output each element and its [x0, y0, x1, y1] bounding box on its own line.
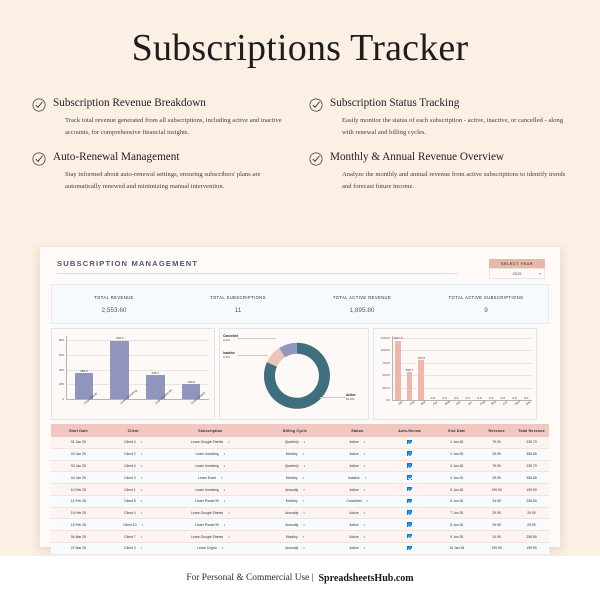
chart-bar-value-label: 558.7	[404, 368, 416, 372]
checkbox-auto-renew[interactable]	[407, 487, 412, 492]
chevron-down-icon[interactable]: ▾	[141, 546, 143, 550]
table-row[interactable]: 15 Feb 25Client 4▾Learn Google Sheets▾An…	[51, 507, 549, 519]
chevron-down-icon[interactable]: ▾	[141, 464, 143, 468]
table-row[interactable]: 16 Feb 25Client 10▾Learn Power BI▾Annual…	[51, 519, 549, 531]
table-cell: 4 Jan 26	[434, 472, 479, 484]
feature-description: Stay informed about auto-renewal setting…	[53, 169, 295, 192]
chevron-down-icon[interactable]: ▾	[364, 511, 366, 515]
table-cell: Annually▾	[260, 519, 330, 531]
kpi-total-subscriptions: TOTAL SUBSCRIPTIONS 11	[176, 285, 300, 323]
table-cell: Learn Power BI▾	[161, 519, 261, 531]
table-cell: Active▾	[330, 531, 385, 543]
chart-gridline	[392, 338, 532, 339]
table-cell: Client 3▾	[106, 543, 161, 555]
table-cell: Learn Crypto▾	[161, 543, 261, 555]
checkbox-auto-renew[interactable]	[407, 522, 412, 527]
chevron-down-icon[interactable]: ▾	[141, 452, 143, 456]
chart-y-axis	[66, 336, 67, 399]
chevron-down-icon[interactable]: ▾	[364, 488, 366, 492]
chart-gridline	[392, 375, 532, 376]
chevron-down-icon[interactable]: ▾	[364, 535, 366, 539]
table-cell-auto-renew[interactable]	[385, 437, 435, 448]
chart-y-tick-label: 1000.0	[374, 348, 390, 352]
table-cell: Active▾	[330, 519, 385, 531]
chart-bar	[418, 360, 423, 400]
table-cell: 07 Mar 25	[51, 543, 106, 555]
table-cell: Active▾	[330, 507, 385, 519]
table-cell-auto-renew[interactable]	[385, 495, 435, 507]
table-cell: 29.90	[479, 448, 514, 460]
table-cell: Client 7▾	[106, 531, 161, 543]
table-cell: 02 Jan 25	[51, 448, 106, 460]
table-cell: 10 Jan 26	[434, 543, 479, 555]
table-cell: Client 3▾	[106, 472, 161, 484]
table-cell: Monthly▾	[260, 531, 330, 543]
feature-item: Subscription Status Tracking Easily moni…	[309, 96, 572, 138]
table-cell: 79.90	[479, 437, 514, 448]
table-cell: 298.80	[514, 495, 549, 507]
checkbox-auto-renew[interactable]	[407, 499, 412, 504]
table-cell: 5 Jan 26	[434, 484, 479, 496]
donut-leader-line	[238, 338, 276, 339]
chevron-down-icon[interactable]: ▾	[303, 511, 305, 515]
footer: For Personal & Commercial Use | Spreadsh…	[0, 556, 600, 600]
table-cell: 9 Jan 26	[434, 531, 479, 543]
kpi-value: 2,553.60	[102, 307, 127, 314]
table-row[interactable]: 01 Jan 25Client 4▾Learn Google Sheets▾Qu…	[51, 437, 549, 448]
table-cell-auto-renew[interactable]	[385, 460, 435, 472]
chevron-down-icon[interactable]: ▾	[141, 535, 143, 539]
feature-description: Analyze the monthly and annual revenue f…	[330, 169, 572, 192]
table-cell: 1 Jan 26	[434, 437, 479, 448]
table-row[interactable]: 04 Mar 25Client 7▾Learn Google Sheets▾Mo…	[51, 531, 549, 543]
chevron-down-icon[interactable]: ▾	[141, 511, 143, 515]
chart-bar-value-label: 328.7	[138, 371, 174, 375]
table-cell: 29.90	[479, 472, 514, 484]
feature-title: Monthly & Annual Revenue Overview	[330, 150, 572, 164]
table-cell: Client 4▾	[106, 437, 161, 448]
table-column-header[interactable]: Billing Cycle	[260, 424, 330, 437]
kpi-row: TOTAL REVENUE 2,553.60 TOTAL SUBSCRIPTIO…	[51, 284, 549, 324]
table-column-header[interactable]: Revenue	[479, 424, 514, 437]
year-picker[interactable]: SELECT YEAR 2025 ▾	[489, 259, 545, 279]
table-cell: 239.70	[514, 437, 549, 448]
table-cell: 239.70	[514, 460, 549, 472]
chevron-down-icon[interactable]: ▾	[539, 272, 541, 276]
table-cell: 199.90	[514, 543, 549, 555]
chevron-down-icon[interactable]: ▾	[304, 464, 306, 468]
table-cell: 3 Jan 26	[434, 460, 479, 472]
chart-y-tick-label: 1250.0	[374, 336, 390, 340]
chart-gridline	[392, 363, 532, 364]
checkbox-auto-renew[interactable]	[407, 510, 412, 515]
checkbox-auto-renew[interactable]	[407, 463, 412, 468]
kpi-label: TOTAL ACTIVE REVENUE	[333, 295, 391, 300]
checkbox-auto-renew[interactable]	[407, 475, 412, 480]
check-circle-icon	[32, 152, 46, 166]
chevron-down-icon[interactable]: ▾	[228, 440, 230, 444]
table-cell: 04 Jan 25	[51, 472, 106, 484]
year-select[interactable]: 2025 ▾	[489, 268, 545, 279]
chart-bar-value-label: 0.0	[427, 396, 439, 400]
table-cell: Active▾	[330, 437, 385, 448]
table-cell: Learn Google Sheets▾	[161, 531, 261, 543]
chart-bar	[110, 341, 129, 399]
table-cell: 358.80	[514, 472, 549, 484]
chevron-down-icon[interactable]: ▾	[221, 476, 223, 480]
table-column-header[interactable]: Status	[330, 424, 385, 437]
checkbox-auto-renew[interactable]	[407, 451, 412, 456]
chevron-down-icon[interactable]: ▾	[224, 523, 226, 527]
table-cell: 03 Jan 25	[51, 460, 106, 472]
feature-item: Auto-Renewal Management Stay informed ab…	[32, 150, 295, 192]
feature-item: Monthly & Annual Revenue Overview Analyz…	[309, 150, 572, 192]
table-cell: 7 Jan 26	[434, 507, 479, 519]
table-cell: 29.90	[514, 507, 549, 519]
table-cell: 29.90	[514, 519, 549, 531]
table-cell: Client 5▾	[106, 495, 161, 507]
table-cell-auto-renew[interactable]	[385, 507, 435, 519]
table-cell: 24.90	[479, 531, 514, 543]
table-cell: 199.90	[514, 484, 549, 496]
footer-brand: SpreadsheetsHub.com	[319, 573, 414, 584]
table-cell: Annually▾	[260, 543, 330, 555]
check-circle-icon	[309, 98, 323, 112]
chart-gridline	[392, 350, 532, 351]
chart-y-tick-label: 600	[52, 353, 64, 357]
feature-title: Auto-Renewal Management	[53, 150, 295, 164]
table-cell: 24.90	[479, 495, 514, 507]
chevron-down-icon[interactable]: ▾	[364, 523, 366, 527]
kpi-total-active-revenue: TOTAL ACTIVE REVENUE 1,895.80	[300, 285, 424, 323]
table-row[interactable]: 14 Feb 25Client 5▾Learn Power BI▾Monthly…	[51, 495, 549, 507]
table-column-header[interactable]: Start Date	[51, 424, 106, 437]
chart-bar-value-label: 0.0	[462, 396, 474, 400]
table-column-header[interactable]: Auto-Renew	[385, 424, 435, 437]
chart-revenue-by-subscription: 0200400600800358.8Learn Excel798.3Learn …	[51, 328, 215, 420]
table-cell: Active▾	[330, 484, 385, 496]
table-column-header[interactable]: Client	[106, 424, 161, 437]
checkbox-auto-renew[interactable]	[407, 534, 412, 539]
chart-y-tick-label: 200	[52, 382, 64, 386]
table-cell: 14 Feb 25	[51, 495, 106, 507]
table-cell-auto-renew[interactable]	[385, 484, 435, 496]
table-cell: 199.90	[479, 543, 514, 555]
chart-bar-value-label: 0.0	[497, 396, 509, 400]
donut-leader-line	[238, 355, 268, 356]
chart-subscription-status-share: Active81.8%Inactive9.1%Cancelled9.1%	[219, 328, 369, 420]
table-cell: Client 4▾	[106, 507, 161, 519]
table-cell: Learn Google Sheets▾	[161, 507, 261, 519]
chart-y-tick-label: 800	[52, 338, 64, 342]
feature-description: Easily monitor the status of each subscr…	[330, 115, 572, 138]
table-row[interactable]: 07 Mar 25Client 3▾Learn Crypto▾Annually▾…	[51, 543, 549, 555]
chart-monthly-revenue: 0.0250.0500.0750.01000.01250.01197.0Jan5…	[373, 328, 537, 420]
kpi-value: 1,895.80	[350, 307, 375, 314]
chart-y-tick-label: 0.0	[374, 398, 390, 402]
table-cell: Client 4▾	[106, 460, 161, 472]
table-cell: Active▾	[330, 448, 385, 460]
feature-list: Subscription Revenue Breakdown Track tot…	[0, 70, 600, 192]
chevron-down-icon[interactable]: ▾	[224, 499, 226, 503]
table-cell: Learn Power BI▾	[161, 495, 261, 507]
table-cell: Annually▾	[260, 484, 330, 496]
dashboard-header: SUBSCRIPTION MANAGEMENT SELECT YEAR 2025…	[49, 255, 551, 279]
table-cell: 10 Feb 25	[51, 484, 106, 496]
table-cell: Learn Excel▾	[161, 472, 261, 484]
chart-y-axis	[392, 336, 393, 400]
check-circle-icon	[309, 152, 323, 166]
feature-title: Subscription Revenue Breakdown	[53, 96, 295, 110]
chevron-down-icon[interactable]: ▾	[224, 452, 226, 456]
table-cell: 358.80	[514, 448, 549, 460]
kpi-value: 9	[484, 307, 488, 314]
chevron-down-icon[interactable]: ▾	[364, 440, 366, 444]
chart-bar-value-label: 199.9	[173, 380, 209, 384]
table-cell-auto-renew[interactable]	[385, 519, 435, 531]
table-cell: Monthly▾	[260, 472, 330, 484]
checkbox-auto-renew[interactable]	[407, 440, 412, 445]
kpi-label: TOTAL SUBSCRIPTIONS	[210, 295, 266, 300]
chart-bar-value-label: 797.6	[415, 356, 427, 360]
chart-bar	[395, 341, 400, 400]
chevron-down-icon[interactable]: ▾	[364, 452, 366, 456]
table-cell: Client 2▾	[106, 448, 161, 460]
chart-y-tick-label: 400	[52, 368, 64, 372]
table-cell: Learn Investing▾	[161, 448, 261, 460]
feature-title: Subscription Status Tracking	[330, 96, 572, 110]
table-cell: Client 1▾	[106, 484, 161, 496]
check-circle-icon	[32, 98, 46, 112]
kpi-total-revenue: TOTAL REVENUE 2,553.60	[52, 285, 176, 323]
table-row[interactable]: 02 Jan 25Client 2▾Learn Investing▾Monthl…	[51, 448, 549, 460]
table-cell: 01 Jan 25	[51, 437, 106, 448]
page-title: Subscriptions Tracker	[0, 0, 600, 70]
donut-chart	[220, 329, 368, 419]
table-row[interactable]: 03 Jan 25Client 4▾Learn Investing▾Quarte…	[51, 460, 549, 472]
dashboard-screenshot: SUBSCRIPTION MANAGEMENT SELECT YEAR 2025…	[40, 247, 560, 547]
chevron-down-icon[interactable]: ▾	[303, 546, 305, 550]
table-cell: Learn Investing▾	[161, 460, 261, 472]
kpi-label: TOTAL ACTIVE SUBSCRIPTIONS	[449, 295, 524, 300]
chevron-down-icon[interactable]: ▾	[228, 511, 230, 515]
table-column-header[interactable]: End Date	[434, 424, 479, 437]
table-cell: Monthly▾	[260, 448, 330, 460]
chevron-down-icon[interactable]: ▾	[303, 499, 305, 503]
chart-bar-value-label: 0.0	[450, 396, 462, 400]
table-cell: 16 Feb 25	[51, 519, 106, 531]
table-header-row: Start DateClientSubscriptionBilling Cycl…	[51, 424, 549, 437]
chart-y-tick-label: 0	[52, 397, 64, 401]
table-row[interactable]: 04 Jan 25Client 3▾Learn Excel▾Monthly▾In…	[51, 472, 549, 484]
chevron-down-icon[interactable]: ▾	[303, 476, 305, 480]
chevron-down-icon[interactable]: ▾	[304, 440, 306, 444]
chart-gridline	[66, 355, 209, 356]
feature-item: Subscription Revenue Breakdown Track tot…	[32, 96, 295, 138]
table-column-header[interactable]: Total Revenue	[514, 424, 549, 437]
feature-description: Track total revenue generated from all s…	[53, 115, 295, 138]
chart-y-tick-label: 250.0	[374, 386, 390, 390]
donut-slice-label: Inactive9.1%	[223, 351, 235, 359]
chevron-down-icon[interactable]: ▾	[367, 499, 369, 503]
charts-row: 0200400600800358.8Learn Excel798.3Learn …	[51, 328, 549, 420]
table-cell-auto-renew[interactable]	[385, 543, 435, 555]
donut-slice-label: Cancelled9.1%	[223, 334, 238, 342]
chevron-down-icon[interactable]: ▾	[224, 464, 226, 468]
chevron-down-icon[interactable]: ▾	[303, 452, 305, 456]
year-picker-label: SELECT YEAR	[489, 259, 545, 268]
chart-y-tick-label: 750.0	[374, 361, 390, 365]
table-cell: 15 Feb 25	[51, 507, 106, 519]
footer-usage-text: For Personal & Commercial Use |	[186, 573, 313, 583]
table-cell: 199.90	[479, 484, 514, 496]
checkbox-auto-renew[interactable]	[407, 546, 412, 551]
chart-gridline	[392, 388, 532, 389]
table-row[interactable]: 10 Feb 25Client 1▾Learn Investing▾Annual…	[51, 484, 549, 496]
table-cell-auto-renew[interactable]	[385, 448, 435, 460]
chart-y-tick-label: 500.0	[374, 373, 390, 377]
table-cell: 79.90	[479, 460, 514, 472]
table-cell: 2 Jan 26	[434, 448, 479, 460]
chevron-down-icon[interactable]: ▾	[141, 488, 143, 492]
chevron-down-icon[interactable]: ▾	[224, 488, 226, 492]
table-cell: Client 10▾	[106, 519, 161, 531]
chart-bar-value-label: 1197.0	[392, 336, 404, 340]
chevron-down-icon[interactable]: ▾	[141, 476, 143, 480]
chevron-down-icon[interactable]: ▾	[303, 523, 305, 527]
chevron-down-icon[interactable]: ▾	[141, 440, 143, 444]
chevron-down-icon[interactable]: ▾	[222, 546, 224, 550]
table-cell: Learn Investing▾	[161, 484, 261, 496]
chart-bar-value-label: 358.8	[66, 369, 102, 373]
kpi-label: TOTAL REVENUE	[94, 295, 133, 300]
chevron-down-icon[interactable]: ▾	[303, 488, 305, 492]
chevron-down-icon[interactable]: ▾	[364, 546, 366, 550]
table-cell: Quarterly▾	[260, 460, 330, 472]
table-cell: 298.80	[514, 531, 549, 543]
table-cell: Annually▾	[260, 507, 330, 519]
chevron-down-icon[interactable]: ▾	[364, 464, 366, 468]
chevron-down-icon[interactable]: ▾	[228, 535, 230, 539]
table-cell: 6 Jan 26	[434, 495, 479, 507]
kpi-value: 11	[235, 307, 242, 314]
table-cell: Monthly▾	[260, 495, 330, 507]
table-cell: Cancelled▾	[330, 495, 385, 507]
chevron-down-icon[interactable]: ▾	[365, 476, 367, 480]
dashboard-title: SUBSCRIPTION MANAGEMENT	[57, 259, 458, 274]
kpi-total-active-subscriptions: TOTAL ACTIVE SUBSCRIPTIONS 9	[424, 285, 548, 323]
chevron-down-icon[interactable]: ▾	[142, 523, 144, 527]
table-cell: Quarterly▾	[260, 437, 330, 448]
chart-bar-value-label: 798.3	[102, 336, 138, 340]
table-cell: Active▾	[330, 460, 385, 472]
table-cell-auto-renew[interactable]	[385, 531, 435, 543]
chart-gridline	[66, 340, 209, 341]
table-cell: 04 Mar 25	[51, 531, 106, 543]
chevron-down-icon[interactable]: ▾	[141, 499, 143, 503]
table-column-header[interactable]: Subscription	[161, 424, 261, 437]
chevron-down-icon[interactable]: ▾	[303, 535, 305, 539]
chart-bar	[407, 372, 412, 400]
donut-slice-label: Active81.8%	[346, 393, 356, 401]
table-cell: Inactive▾	[330, 472, 385, 484]
table-cell-auto-renew[interactable]	[385, 472, 435, 484]
table-cell: 29.90	[479, 519, 514, 531]
year-value: 2025	[513, 271, 522, 276]
donut-leader-line	[320, 397, 346, 398]
table-cell: 29.90	[479, 507, 514, 519]
table-cell: Active▾	[330, 543, 385, 555]
table-cell: Learn Google Sheets▾	[161, 437, 261, 448]
table-cell: 8 Jan 26	[434, 519, 479, 531]
